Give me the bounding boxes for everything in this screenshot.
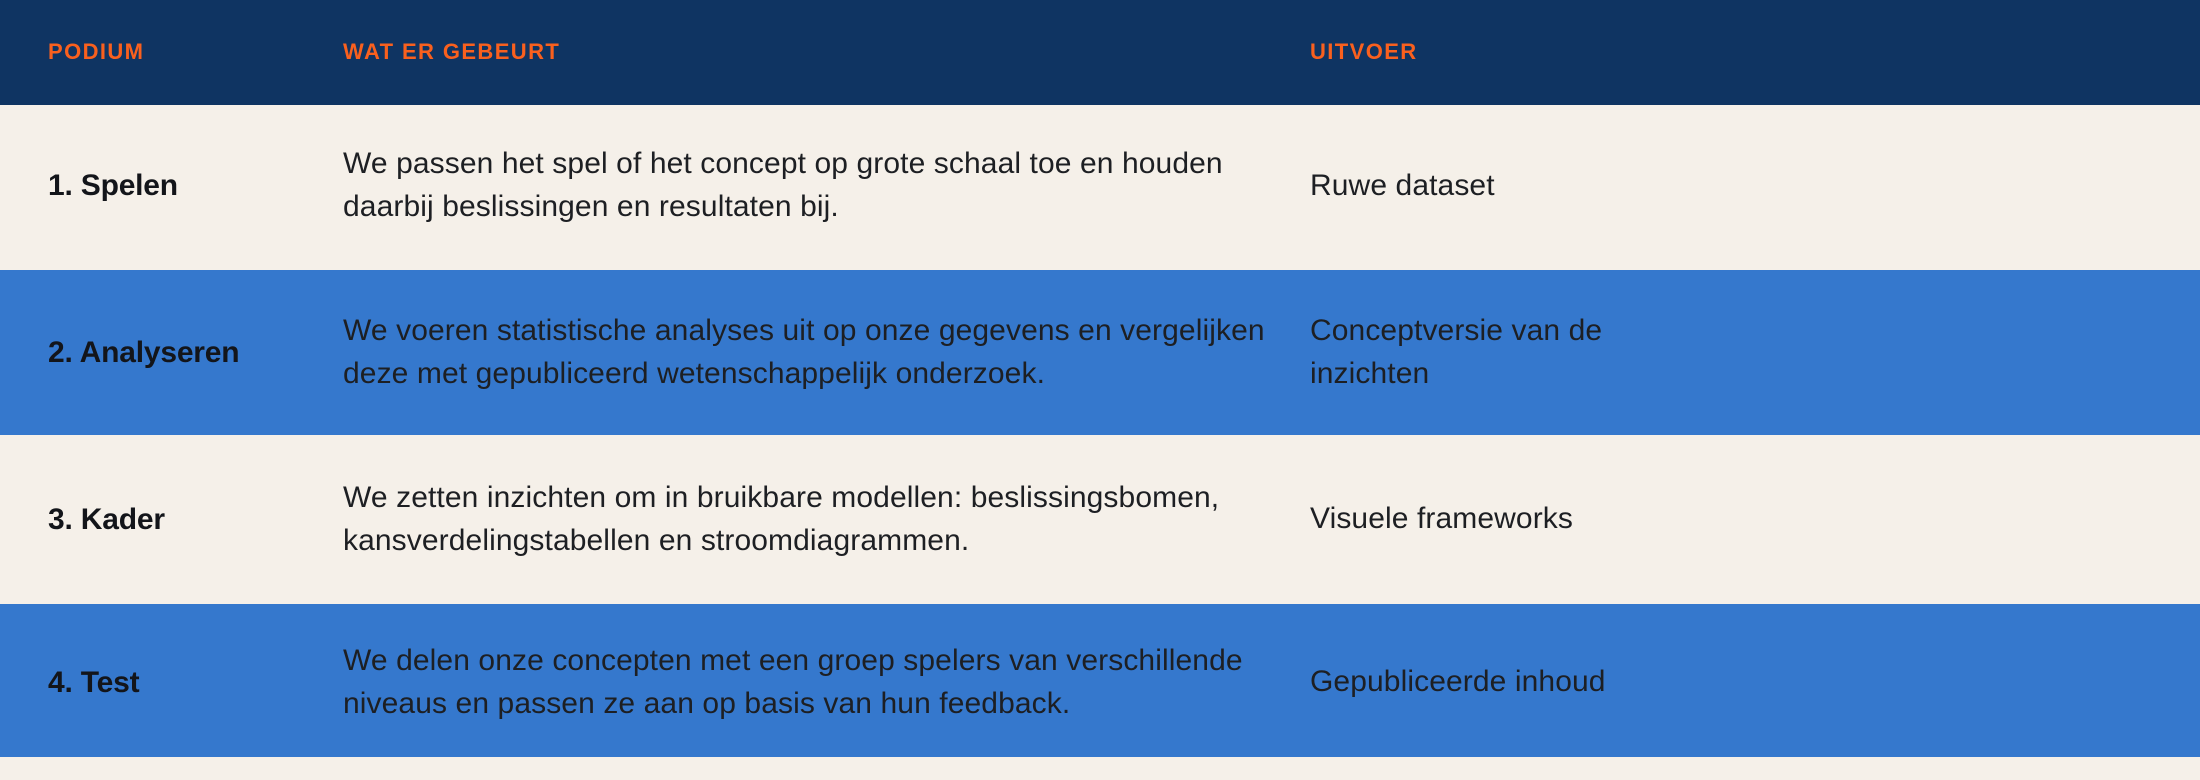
cell-output: Visuele frameworks <box>1310 498 1760 541</box>
cell-output: Conceptversie van de inzichten <box>1310 310 1760 395</box>
cell-stage: 3. Kader <box>0 502 343 538</box>
table-row: 3. Kader We zetten inzichten om in bruik… <box>0 437 2200 602</box>
cell-what: We delen onze concepten met een groep sp… <box>343 640 1310 725</box>
column-header-wat-er-gebeurt: WAT ER GEBEURT <box>343 40 1310 64</box>
column-header-uitvoer: UITVOER <box>1310 40 2200 64</box>
cell-stage: 1. Spelen <box>0 168 343 204</box>
table-row: 2. Analyseren We voeren statistische ana… <box>0 270 2200 435</box>
bottom-spacer <box>0 757 2200 780</box>
cell-output: Ruwe dataset <box>1310 165 1760 208</box>
process-table: PODIUM WAT ER GEBEURT UITVOER 1. Spelen … <box>0 0 2200 780</box>
cell-what: We voeren statistische analyses uit op o… <box>343 310 1310 395</box>
column-header-podium: PODIUM <box>0 40 343 64</box>
table-row: 4. Test We delen onze concepten met een … <box>0 604 2200 761</box>
table-row: 1. Spelen We passen het spel of het conc… <box>0 105 2200 267</box>
cell-output: Gepubliceerde inhoud <box>1310 661 1760 704</box>
cell-stage: 2. Analyseren <box>0 335 343 371</box>
cell-what: We passen het spel of het concept op gro… <box>343 143 1310 228</box>
cell-what: We zetten inzichten om in bruikbare mode… <box>343 477 1310 562</box>
table-header-row: PODIUM WAT ER GEBEURT UITVOER <box>0 0 2200 105</box>
cell-stage: 4. Test <box>0 665 343 701</box>
